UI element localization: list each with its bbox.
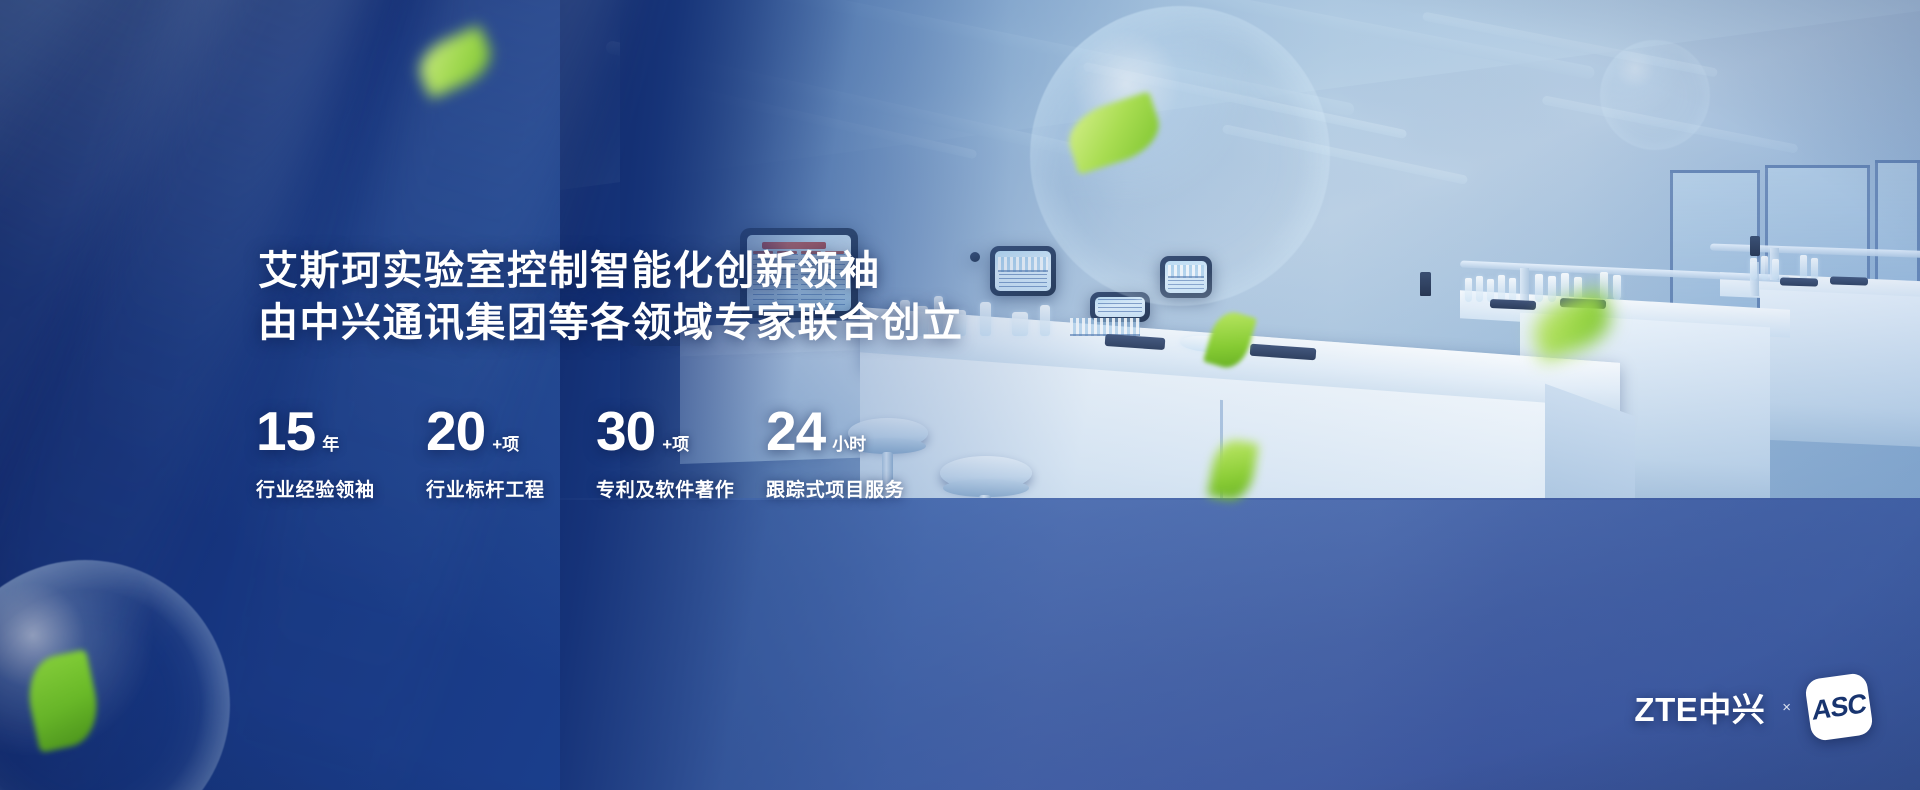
stat-caption: 跟踪式项目服务 [766,475,930,502]
stat-unit: 年 [322,430,339,455]
zte-wordmark: ZTE中兴 [1634,683,1765,731]
stat-number: 30 [596,404,655,459]
asc-logo: ASC [1804,672,1874,742]
stat-item: 15 年 行业经验领袖 [250,404,420,502]
logo-separator: × [1782,699,1791,716]
asc-wordmark: ASC [1812,688,1866,727]
stat-number: 15 [256,404,315,459]
stats-row: 15 年 行业经验领袖 20 +项 行业标杆工程 30 +项 专利及软件著作 2… [250,404,930,502]
stat-caption: 行业经验领袖 [256,475,420,502]
logo-lockup: ZTE中兴 × ASC [1634,676,1870,738]
stat-unit: 小时 [832,430,866,455]
stat-unit: +项 [492,430,519,455]
headline-line-2: 由中兴通讯集团等各领域专家联合创立 [258,297,964,349]
stat-item: 20 +项 行业标杆工程 [420,404,590,502]
vignette [0,0,1920,790]
stat-caption: 专利及软件著作 [596,475,760,502]
stat-number: 24 [766,404,825,459]
stat-number: 20 [426,404,485,459]
hero-banner: 艾斯珂实验室控制智能化创新领袖 由中兴通讯集团等各领域专家联合创立 15 年 行… [0,0,1920,790]
headline-line-1: 艾斯珂实验室控制智能化创新领袖 [258,245,964,297]
stat-unit: +项 [662,430,689,455]
stat-item: 24 小时 跟踪式项目服务 [760,404,930,502]
headline-block: 艾斯珂实验室控制智能化创新领袖 由中兴通讯集团等各领域专家联合创立 [258,245,964,349]
stat-caption: 行业标杆工程 [426,475,590,502]
stat-item: 30 +项 专利及软件著作 [590,404,760,502]
